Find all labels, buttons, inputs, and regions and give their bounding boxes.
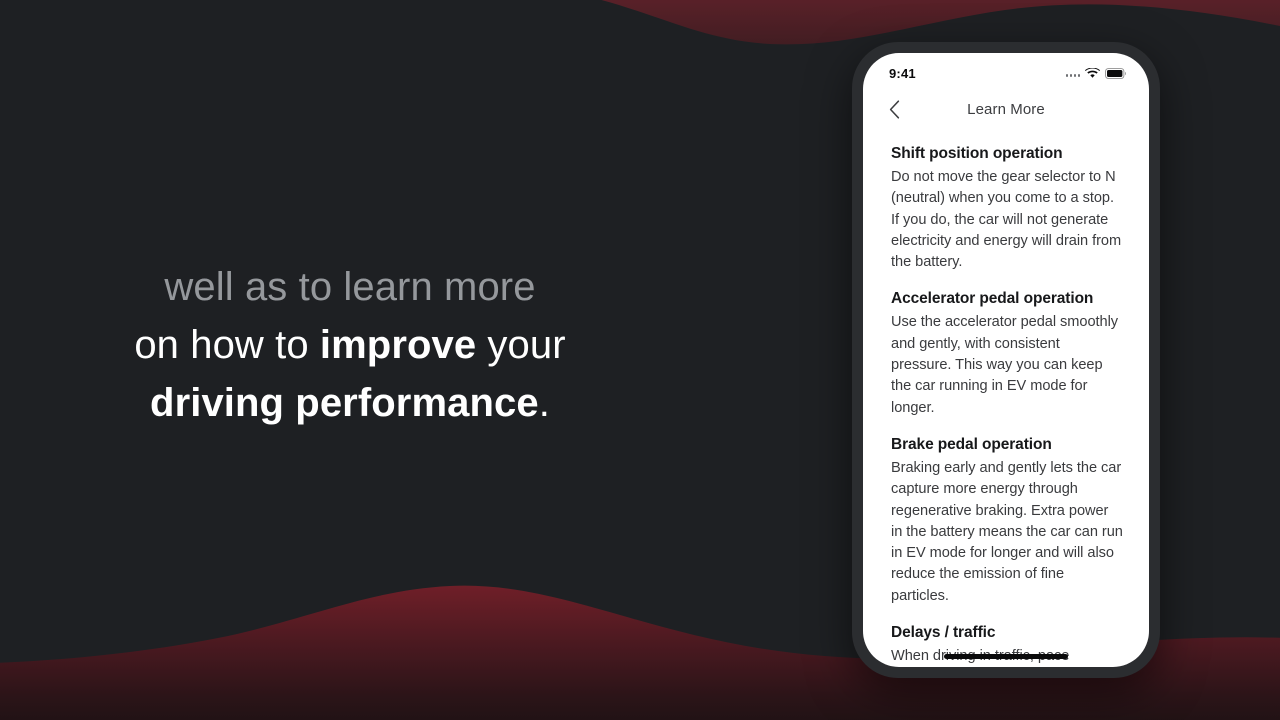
section-brake-pedal-operation: Brake pedal operation Braking early and …	[891, 436, 1123, 607]
section-body: Use the accelerator pedal smoothly and g…	[891, 312, 1123, 418]
phone-mockup: 9:41 Learn	[852, 42, 1160, 678]
chevron-left-icon	[889, 100, 900, 119]
back-button[interactable]	[881, 96, 907, 122]
caption-block: well as to learn more on how to improve …	[0, 258, 700, 432]
status-time: 9:41	[889, 66, 916, 81]
caption-seg-period: .	[539, 381, 550, 425]
article-content[interactable]: Shift position operation Do not move the…	[863, 131, 1149, 667]
home-indicator-bar[interactable]	[944, 654, 1068, 659]
status-indicators	[1066, 68, 1128, 79]
caption-seg-plain: on how to	[134, 323, 320, 367]
battery-full-icon	[1105, 68, 1127, 79]
section-body: Do not move the gear selector to N (neut…	[891, 167, 1123, 273]
signal-dots-icon	[1066, 70, 1081, 77]
section-accelerator-pedal-operation: Accelerator pedal operation Use the acce…	[891, 290, 1123, 418]
section-body: Braking early and gently lets the car ca…	[891, 458, 1123, 607]
section-heading: Accelerator pedal operation	[891, 290, 1123, 308]
phone-screen: 9:41 Learn	[863, 53, 1149, 667]
caption-line-3: driving performance.	[0, 374, 700, 432]
wifi-icon	[1085, 68, 1100, 79]
section-heading: Delays / traffic	[891, 624, 1123, 642]
status-bar: 9:41	[863, 53, 1149, 87]
nav-bar: Learn More	[863, 87, 1149, 131]
caption-seg-bold-performance: driving performance	[150, 381, 539, 425]
caption-line-2: on how to improve your	[0, 316, 700, 374]
caption-seg-bold-improve: improve	[320, 323, 476, 367]
section-shift-position-operation: Shift position operation Do not move the…	[891, 145, 1123, 273]
section-delays-traffic: Delays / traffic When driving in traffic…	[891, 624, 1123, 667]
caption-seg-plain-2: your	[476, 323, 565, 367]
section-heading: Shift position operation	[891, 145, 1123, 163]
section-heading: Brake pedal operation	[891, 436, 1123, 454]
caption-line-1: well as to learn more	[0, 258, 700, 316]
